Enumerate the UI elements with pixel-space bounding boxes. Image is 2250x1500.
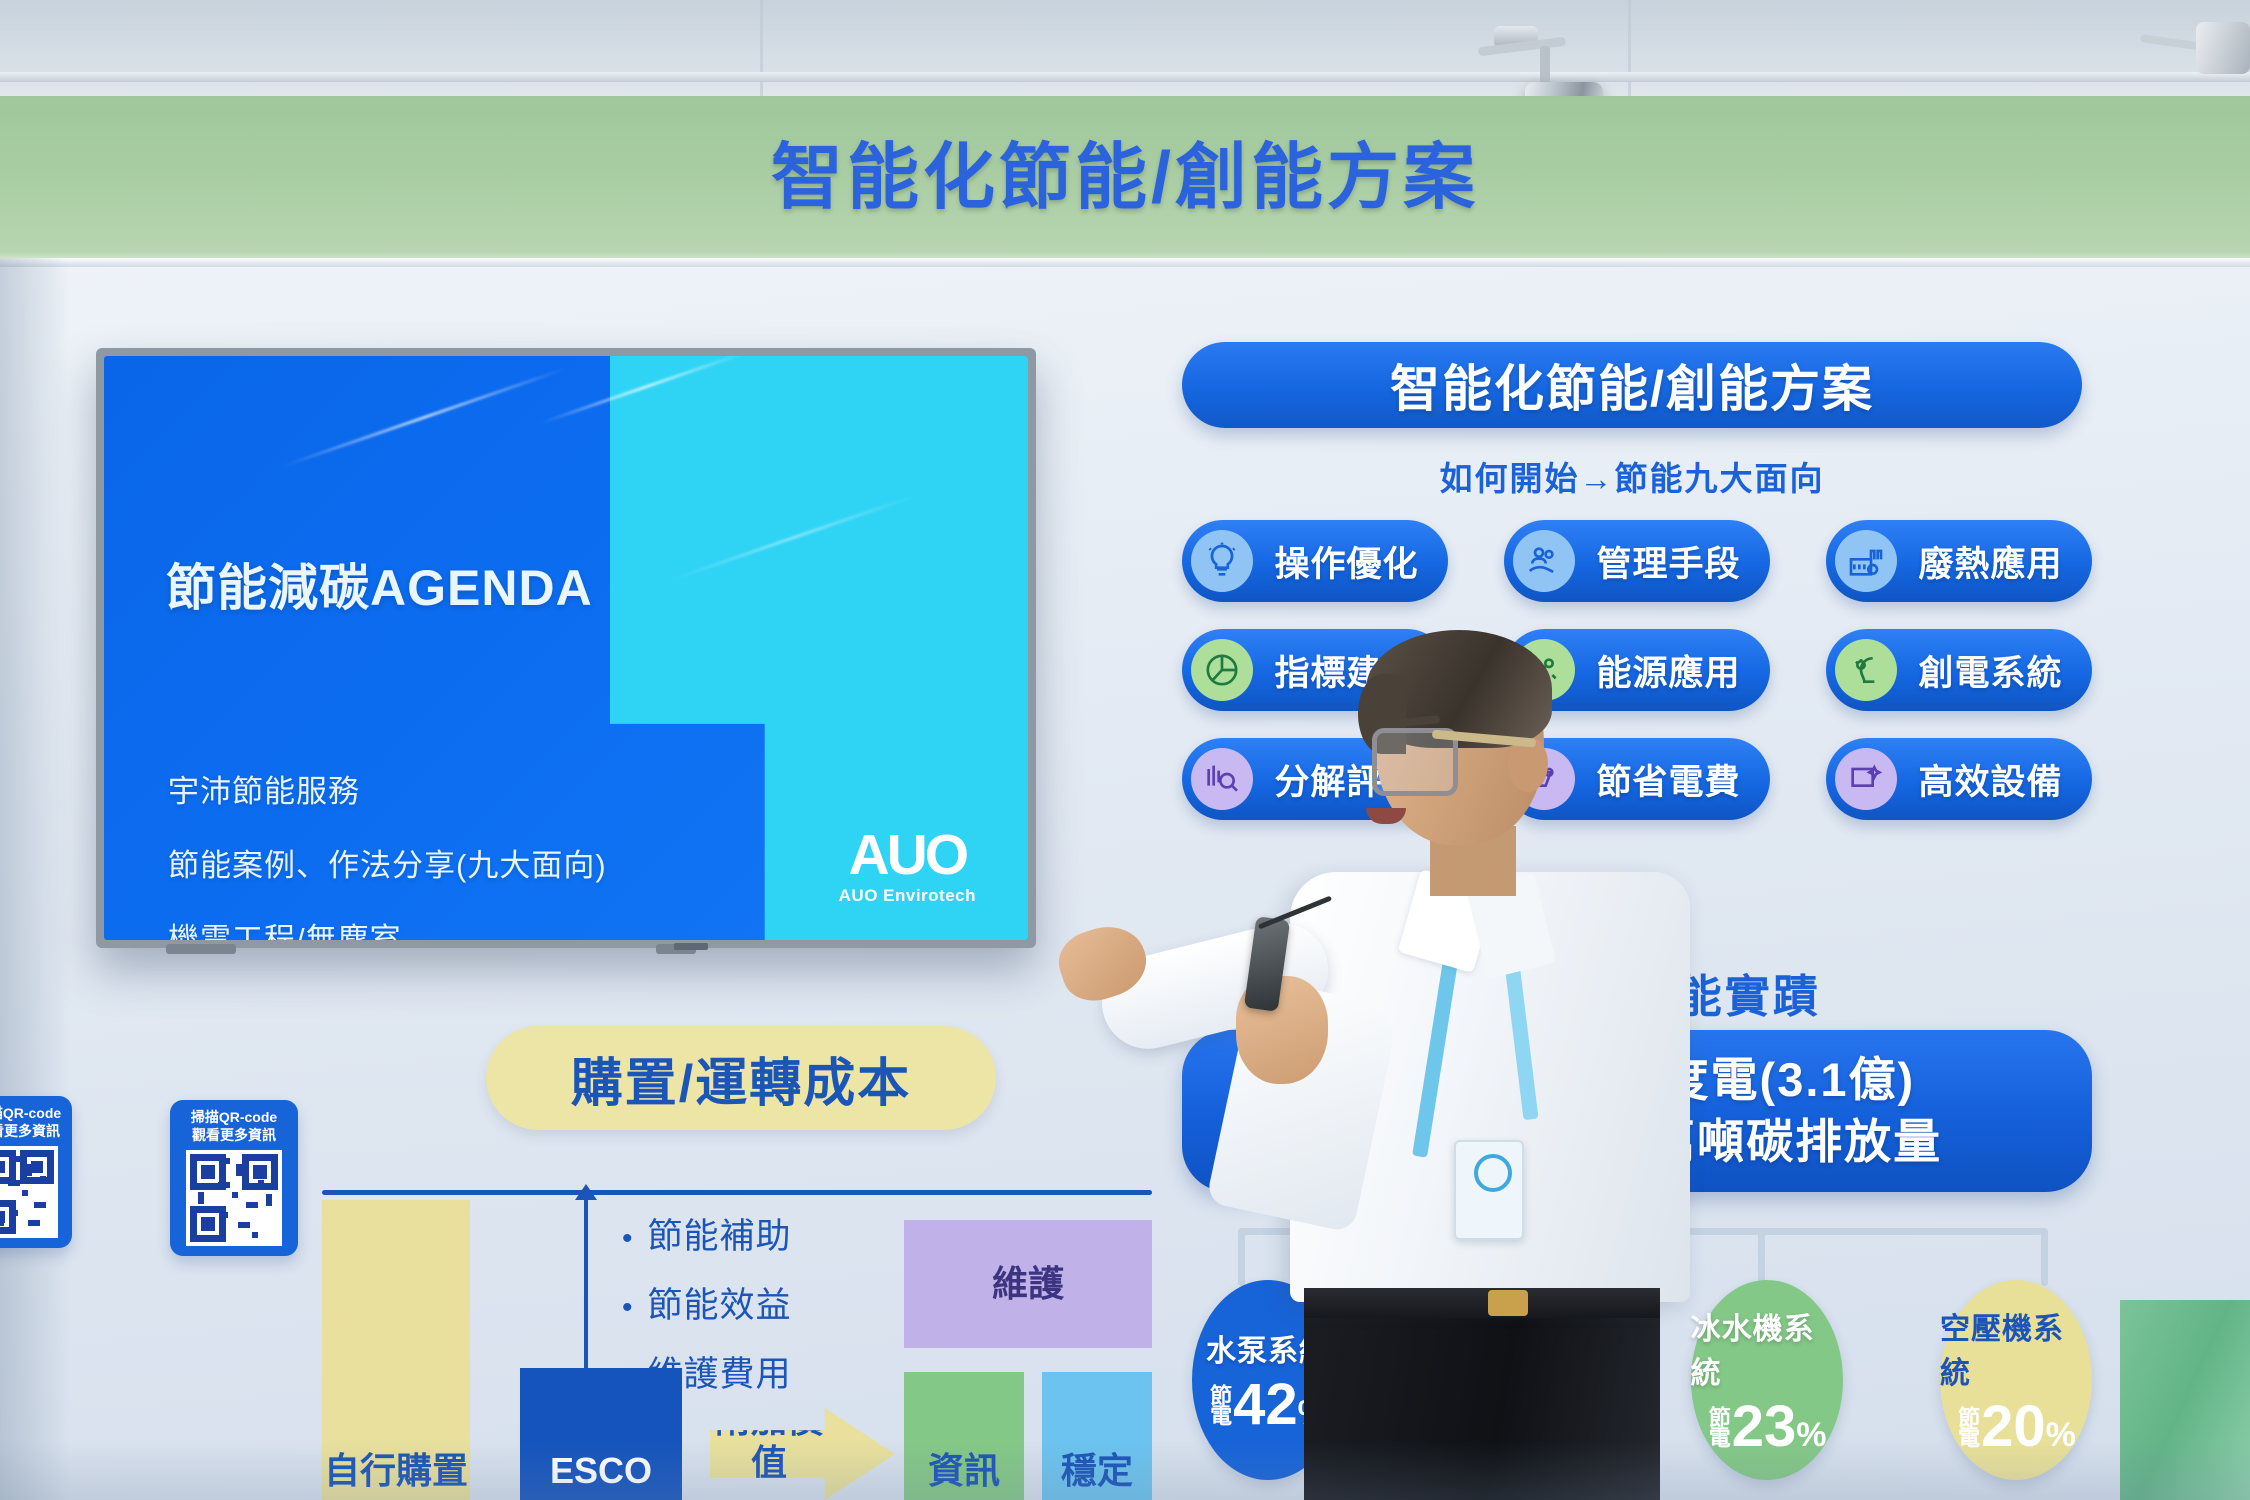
wall-top-edge (0, 258, 2250, 267)
panel-spark-icon (1835, 748, 1897, 810)
aspect-pill-label: 創電系統 (1897, 645, 2092, 696)
slide-bullet: 節能案例、作法分享(九大面向) (168, 840, 607, 885)
aspect-pill-label: 管理手段 (1575, 536, 1770, 587)
monitor-mount-left (166, 944, 236, 954)
aspect-pill-power-generation[interactable]: 創電系統 (1826, 629, 2092, 711)
aspect-pill-efficient-equipment[interactable]: 高效設備 (1826, 738, 2092, 820)
factory-gear-icon (1835, 530, 1897, 592)
belt-buckle (1488, 1290, 1528, 1316)
presenter-badge (1454, 1140, 1524, 1240)
savings-gap-arrow-icon (584, 1198, 588, 1390)
qr-card-right[interactable]: 掃描QR-code 觀看更多資訊 (170, 1100, 298, 1256)
savings-prefix: 節電 (1208, 1384, 1230, 1424)
slide-bullet: 宇沛節能服務 (168, 766, 607, 811)
qr-caption-line2: 觀看更多資訊 (178, 1127, 290, 1145)
slide-bullet: 機電工程/無塵室 (168, 914, 607, 940)
bracket-leg (2041, 1228, 2048, 1286)
qr-code-image (0, 1146, 58, 1238)
auo-logo-subtitle: AUO Envirotech (839, 886, 976, 906)
monitor-brand-badge (674, 943, 708, 950)
right-board-title-text: 智能化節能/創能方案 (1390, 349, 1874, 421)
qr-caption-line2: 觀看更多資訊 (0, 1123, 64, 1141)
brain-gear-icon (1835, 639, 1897, 701)
cost-section-title-text: 購置/運轉成本 (571, 1041, 911, 1116)
qr-code-image (186, 1150, 282, 1246)
presenter-mouth (1366, 808, 1406, 824)
qr-caption-line1: 掃描QR-code (178, 1109, 290, 1127)
bracket-leg (1758, 1228, 1765, 1286)
cost-bullet: 節能效益 (622, 1277, 792, 1328)
slide-bullet-list: 宇沛節能服務 節能案例、作法分享(九大面向) 機電工程/無塵室 工程實蹟 (168, 766, 607, 940)
exhibition-booth-photo: 智能化節能/創能方案 節能減碳AGENDA 宇沛節能服務 節能案例、作法分享(九… (0, 0, 2250, 1500)
pill-row: 操作優化 管理手段 廢熱應用 (1182, 520, 2092, 602)
magnifier-data-icon (1191, 748, 1253, 810)
people-hand-icon (1513, 530, 1575, 592)
chart-bar-maintenance: 維護 (904, 1220, 1152, 1348)
right-board-title-banner: 智能化節能/創能方案 (1182, 342, 2082, 428)
chart-top-rule (322, 1190, 1152, 1195)
aspect-pill-waste-heat[interactable]: 廢熱應用 (1826, 520, 2092, 602)
qr-caption-line1: 掃描QR-code (0, 1105, 64, 1123)
aspect-pill-operation[interactable]: 操作優化 (1182, 520, 1448, 602)
chart-bar-label: 維護 (992, 1262, 1064, 1305)
slide-title: 節能減碳AGENDA (166, 548, 593, 620)
auo-logo-mark: AUO (839, 828, 976, 882)
auo-logo: AUO AUO Envirotech (839, 828, 976, 906)
cost-bullet: 節能補助 (622, 1208, 792, 1259)
savings-circle-name: 冰水機系統 (1691, 1304, 1843, 1392)
spotlight-right-icon (2196, 22, 2250, 74)
aspect-pill-label: 操作優化 (1253, 536, 1448, 587)
booth-banner-title: 智能化節能/創能方案 (0, 118, 2250, 223)
wall-shadow (0, 258, 70, 1500)
qr-card-left[interactable]: 掃描QR-code 觀看更多資訊 (0, 1096, 72, 1248)
display-monitor[interactable]: 節能減碳AGENDA 宇沛節能服務 節能案例、作法分享(九大面向) 機電工程/無… (96, 348, 1036, 948)
presenter (1280, 640, 1710, 1500)
aspect-pill-management[interactable]: 管理手段 (1504, 520, 1770, 602)
lightbulb-icon (1191, 530, 1253, 592)
savings-circle-name: 空壓機系統 (1940, 1304, 2092, 1392)
floor-shadow (0, 1440, 2250, 1500)
bracket-leg (1238, 1228, 1245, 1286)
aspect-pill-label: 高效設備 (1897, 754, 2092, 805)
slide-canvas: 節能減碳AGENDA 宇沛節能服務 節能案例、作法分享(九大面向) 機電工程/無… (104, 356, 1028, 940)
pie-chart-icon (1191, 639, 1253, 701)
aspect-pill-label: 廢熱應用 (1897, 536, 2092, 587)
right-board-subtitle: 如何開始→節能九大面向 (1182, 452, 2082, 500)
ceiling-rail (0, 72, 2250, 82)
presenter-belt (1304, 1288, 1660, 1318)
slide-streak (282, 367, 567, 468)
cost-section-title-banner: 購置/運轉成本 (486, 1026, 996, 1130)
